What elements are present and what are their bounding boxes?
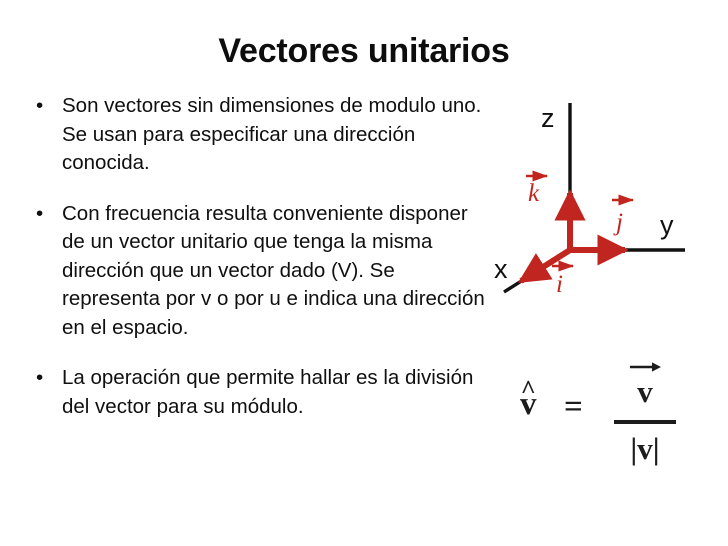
numerator-overarrow-icon <box>628 360 662 372</box>
bullet-list: • Son vectores sin dimensiones de modulo… <box>26 92 496 421</box>
bullet-marker-icon: • <box>36 200 43 229</box>
bullet-marker-icon: • <box>36 92 43 121</box>
page-title: Vectores unitarios <box>0 30 728 72</box>
y-axis-label: y <box>660 210 674 240</box>
list-item: • Son vectores sin dimensiones de modulo… <box>26 92 496 178</box>
bullet-marker-icon: • <box>36 364 43 393</box>
unit-vector-formula: ^ v = v |v| <box>508 362 708 466</box>
formula-equals-sign: = <box>564 389 583 426</box>
list-item: • La operación que permite hallar es la … <box>26 364 496 421</box>
formula-denominator-letter: v <box>637 431 653 466</box>
formula-numerator-letter: v <box>637 374 653 409</box>
abs-bar-right: | <box>653 431 660 466</box>
bullet-text-3: La operación que permite hallar es la di… <box>62 364 496 421</box>
j-vector-label: j <box>613 209 623 236</box>
i-vector-label-group: i <box>552 266 573 298</box>
axes-svg: z y x k j i <box>486 88 728 308</box>
i-vector-label: i <box>556 271 563 298</box>
k-vector-label: k <box>528 180 540 207</box>
k-vector-label-group: k <box>526 176 547 207</box>
slide-canvas: Vectores unitarios • Son vectores sin di… <box>0 0 728 546</box>
bullet-text-2: Con frecuencia resulta conveniente dispo… <box>62 200 496 343</box>
x-axis-label: x <box>494 254 508 284</box>
formula-denominator: |v| <box>608 424 682 473</box>
formula-fraction: v |v| <box>608 362 682 473</box>
list-item: • Con frecuencia resulta conveniente dis… <box>26 200 496 343</box>
bullet-text-1: Son vectores sin dimensiones de modulo u… <box>62 92 496 178</box>
formula-numerator: v <box>608 362 682 416</box>
j-vector-label-group: j <box>612 200 633 236</box>
z-axis-label: z <box>541 103 555 133</box>
coordinate-axes-diagram: z y x k j i <box>486 88 728 308</box>
hat-accent-icon: ^ <box>521 377 536 403</box>
formula-left-side: ^ v <box>520 388 537 421</box>
